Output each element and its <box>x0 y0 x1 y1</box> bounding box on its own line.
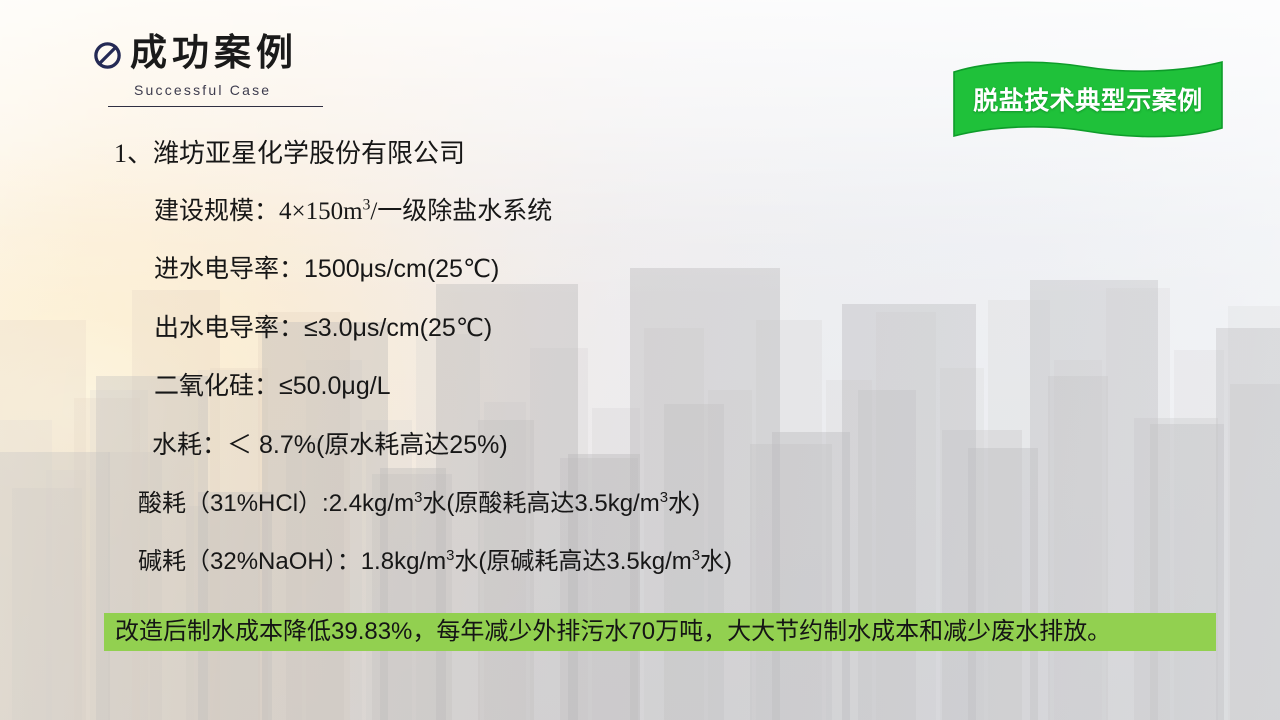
spec-silica-value: ≤50.0μg/L <box>279 372 391 400</box>
spec-effluent-label: 出水电导率 <box>154 314 279 342</box>
conclusion-text: 改造后制水成本降低39.83%，每年减少外排污水70万吨，大大节约制水成本和减少… <box>104 620 1111 644</box>
spec-influent-value: 1500μs/cm(25℃) <box>304 255 499 283</box>
item-number: 1、 <box>114 139 153 168</box>
spec-scale-separator: ： <box>254 197 279 225</box>
spec-acid-suffix: 水) <box>668 490 700 517</box>
spec-silica-label: 二氧化硅 <box>154 372 254 400</box>
spec-water-value: ＜ 8.7%(原水耗高达25%) <box>227 431 508 459</box>
spec-water-separator: ： <box>202 431 227 459</box>
spec-influent-separator: ： <box>279 255 304 283</box>
slashed-circle-icon <box>92 40 123 71</box>
spec-silica: 二氧化硅：≤50.0μg/L <box>154 374 391 399</box>
category-badge: 脱盐技术典型示案例 <box>952 58 1224 142</box>
title-row: 成功案例 <box>92 34 612 73</box>
spec-scale: 建设规模：4×150m3/一级除盐水系统 <box>154 199 552 224</box>
spec-influent-label: 进水电导率 <box>154 255 279 283</box>
spec-acid-prefix: 酸耗（31%HCl）:2.4kg/m <box>138 490 414 517</box>
spec-acid-superscript-2: 3 <box>660 490 668 506</box>
category-badge-label: 脱盐技术典型示案例 <box>952 81 1224 117</box>
spec-silica-separator: ： <box>254 372 279 400</box>
spec-water-label: 水耗 <box>152 431 202 459</box>
spec-influent-conductivity: 进水电导率：1500μs/cm(25℃) <box>154 257 499 282</box>
spec-scale-value-prefix: 4×150m <box>279 198 363 225</box>
spec-scale-value-suffix: /一级除盐水系统 <box>370 198 552 225</box>
spec-water-consumption: 水耗：＜ 8.7%(原水耗高达25%) <box>152 433 508 458</box>
spec-acid-consumption: 酸耗（31%HCl）:2.4kg/m3水(原酸耗高达3.5kg/m3水) <box>138 492 700 516</box>
spec-alkali-consumption: 碱耗（32%NaOH）：1.8kg/m3水(原碱耗高达3.5kg/m3水) <box>138 550 732 574</box>
spec-effluent-value: ≤3.0μs/cm(25℃) <box>304 314 492 342</box>
spec-alkali-prefix: 碱耗（32%NaOH）：1.8kg/m <box>138 548 446 575</box>
slide-header: 成功案例 Successful Case <box>92 34 612 107</box>
spec-acid-mid: 水(原酸耗高达3.5kg/m <box>422 490 659 517</box>
spec-scale-label: 建设规模 <box>154 197 254 225</box>
title-divider <box>108 106 323 107</box>
spec-effluent-conductivity: 出水电导率：≤3.0μs/cm(25℃) <box>154 316 492 341</box>
spec-alkali-mid: 水(原碱耗高达3.5kg/m <box>454 548 691 575</box>
company-name: 潍坊亚星化学股份有限公司 <box>153 138 465 168</box>
spec-effluent-separator: ： <box>279 314 304 342</box>
page-subtitle: Successful Case <box>134 82 612 98</box>
spec-alkali-suffix: 水) <box>700 548 732 575</box>
list-item-company: 1、潍坊亚星化学股份有限公司 <box>114 140 465 167</box>
slide-root: 成功案例 Successful Case 脱盐技术典型示案例 1、潍坊亚星化学股… <box>0 0 1280 720</box>
spec-alkali-superscript-2: 3 <box>692 548 700 564</box>
page-title: 成功案例 <box>130 34 298 73</box>
conclusion-banner: 改造后制水成本降低39.83%，每年减少外排污水70万吨，大大节约制水成本和减少… <box>104 613 1216 651</box>
